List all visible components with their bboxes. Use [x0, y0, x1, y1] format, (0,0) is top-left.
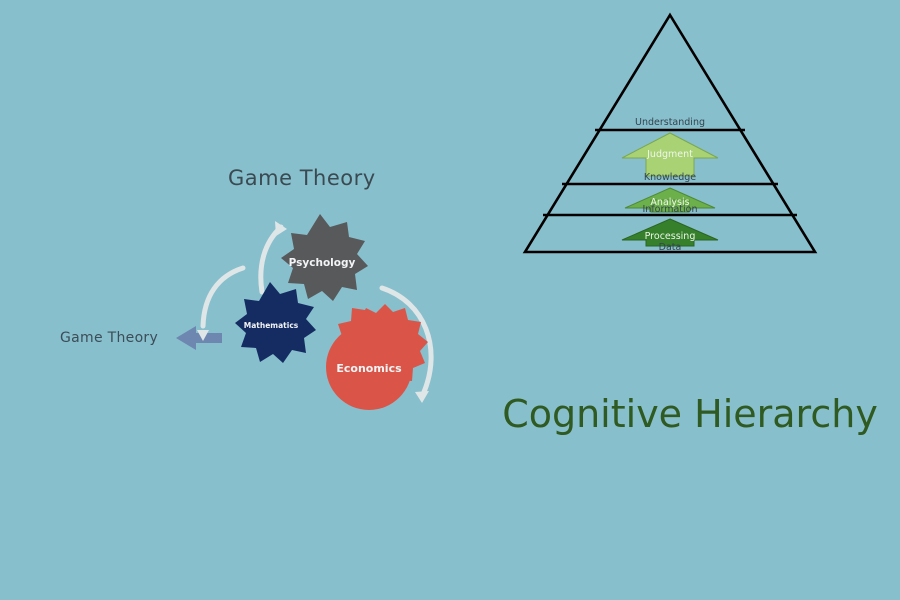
tier-label-understanding: Understanding: [635, 117, 705, 128]
pyramid-level-information[interactable]: Analysis Information: [625, 188, 715, 215]
pyramid-level-understanding[interactable]: Understanding: [635, 117, 705, 128]
pyramid-level-data[interactable]: Processing Data: [622, 219, 718, 253]
tier-label-information: Information: [643, 204, 698, 215]
arrow-label-processing: Processing: [645, 231, 696, 242]
arc-left-icon: [197, 268, 243, 341]
diagram-canvas: Game Theory Game Theory: [0, 0, 900, 600]
gear-psychology[interactable]: Psychology: [281, 214, 368, 301]
gear-economics[interactable]: Economics: [326, 304, 428, 410]
gear-label-economics: Economics: [336, 362, 402, 375]
arc-top-icon: [261, 221, 287, 292]
gear-mathematics[interactable]: Mathematics: [235, 282, 316, 363]
pyramid-graphic: Understanding Judgment Knowledge Analysi…: [470, 0, 900, 600]
arrow-label-judgment: Judgment: [646, 149, 693, 160]
game-theory-panel: Game Theory Game Theory: [0, 0, 470, 600]
cognitive-hierarchy-panel: Understanding Judgment Knowledge Analysi…: [470, 0, 900, 600]
gear-label-mathematics: Mathematics: [244, 321, 299, 330]
tier-label-knowledge: Knowledge: [644, 172, 696, 183]
tier-label-data: Data: [659, 242, 682, 253]
left-arrow-icon: [176, 326, 222, 350]
cognitive-hierarchy-title: Cognitive Hierarchy: [490, 392, 890, 436]
pyramid-level-knowledge[interactable]: Judgment Knowledge: [622, 133, 718, 183]
game-theory-graphic: Psychology Mathematics Economics: [0, 0, 470, 600]
gear-label-psychology: Psychology: [289, 257, 356, 269]
